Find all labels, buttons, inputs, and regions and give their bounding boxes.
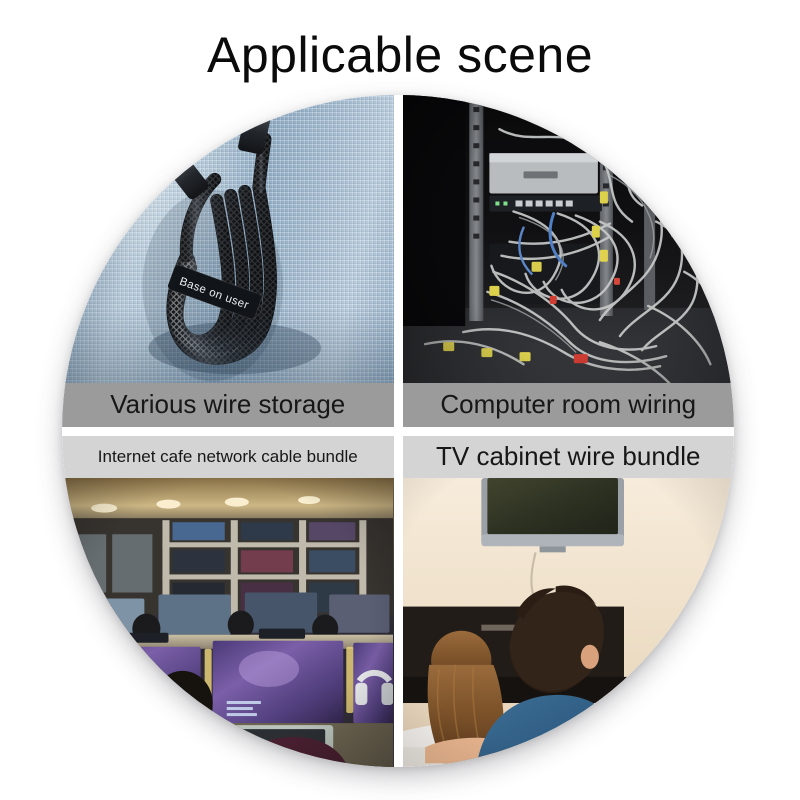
scene-cell-various-wire-storage[interactable]: Base on user Various wire storage [62, 95, 394, 427]
caption-tv-cabinet-wire-bundle: TV cabinet wire bundle [403, 436, 735, 478]
photo-cable-on-sofa: Base on user [62, 95, 394, 383]
living-room-illustration [403, 478, 734, 768]
scene-cell-computer-room-wiring[interactable]: Computer room wiring [403, 95, 735, 427]
scene-grid: Base on user Various wire storage [62, 95, 734, 767]
cable-strap-label: Base on user [178, 276, 251, 312]
scene-cell-internet-cafe[interactable]: Internet cafe network cable bundle [62, 436, 394, 768]
page-title: Applicable scene [0, 28, 800, 83]
caption-various-wire-storage: Various wire storage [62, 383, 394, 427]
caption-internet-cafe-network-cable-bundle: Internet cafe network cable bundle [62, 436, 394, 478]
caption-computer-room-wiring: Computer room wiring [403, 383, 735, 427]
scene-collage-circle: Base on user Various wire storage [62, 95, 734, 767]
photo-internet-cafe [62, 478, 394, 768]
cable-illustration: Base on user [62, 95, 393, 383]
internet-cafe-illustration [62, 478, 393, 768]
photo-couple-watching-tv [403, 478, 735, 768]
server-rack-illustration [403, 95, 734, 383]
photo-server-rack [403, 95, 735, 383]
scene-cell-tv-cabinet[interactable]: TV cabinet wire bundle [403, 436, 735, 768]
